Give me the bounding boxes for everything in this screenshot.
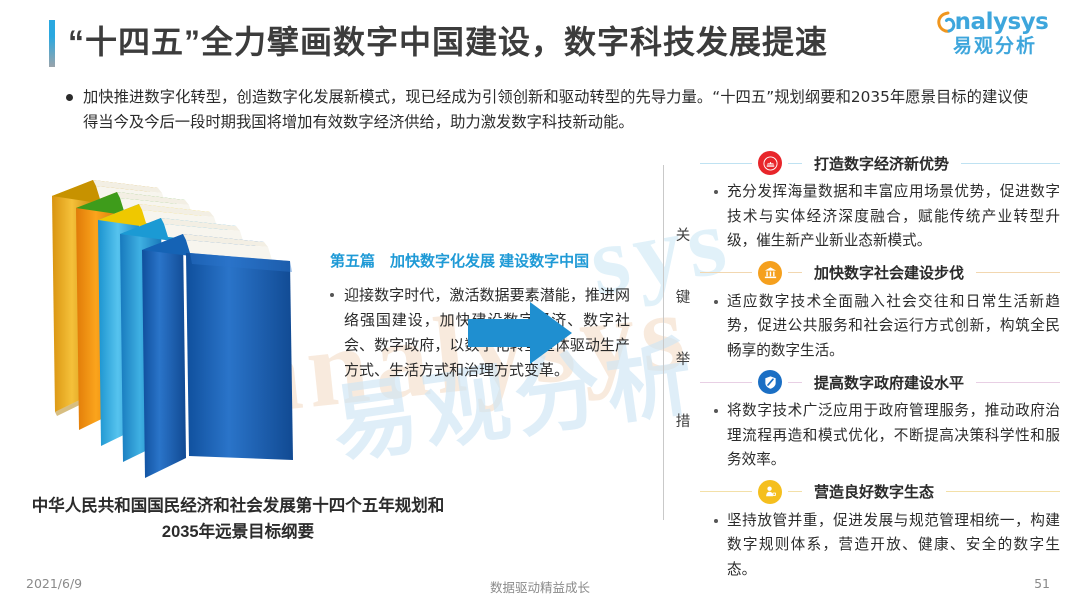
measure-body: 将数字技术广泛应用于政府管理服务，推动政府治理流程再造和模式优化，不断提高决策科… [727,399,1060,473]
measure-body: 充分发挥海量数据和丰富应用场景优势，促进数字技术与实体经济深度融合，赋能传统产业… [727,180,1060,254]
vlabel-char-3: 举 [672,329,694,391]
lead-paragraph: 加快推进数字化转型，创造数字化发展新模式，现已经成为引领创新和驱动转型的先导力量… [66,85,1028,135]
page-title: “十四五”全力擘画数字中国建设，数字科技发展提速 [68,17,828,63]
measure-title: 营造良好数字生态 [808,481,940,502]
rule-left [700,382,752,383]
rule-mid [788,382,802,383]
bullet-dot-icon [714,190,718,194]
measure-title: 提高数字政府建设水平 [808,372,970,393]
footer-slogan: 数据驱动精益成长 [0,577,1080,596]
emblem-icon [758,151,782,175]
footer-page-number: 51 [1034,576,1050,591]
vertical-divider [663,165,664,520]
measure-section: 提高数字政府建设水平 将数字技术广泛应用于政府管理服务，推动政府治理流程再造和模… [700,367,1060,473]
rule-mid [788,491,802,492]
logo-wordmark: nalysys [955,11,1049,34]
measure-title: 打造数字经济新优势 [808,153,955,174]
logo-chinese: 易观分析 [934,37,1056,56]
rule-right [976,272,1060,273]
rule-right [946,491,1060,492]
lead-paragraph-text: 加快推进数字化转型，创造数字化发展新模式，现已经成为引领创新和驱动转型的先导力量… [83,85,1028,135]
illustration-caption: 中华人民共和国国民经济和社会发展第十四个五年规划和2035年远景目标纲要 [28,493,448,545]
bullet-dot-icon [66,94,73,101]
slide-root: analysys sys 易观分析 “十四五”全力擘画数字中国建设，数字科技发展… [0,0,1080,608]
rule-left [700,272,752,273]
brand-logo: nalysys 易观分析 [934,10,1056,56]
rule-right [961,163,1060,164]
bullet-dot-icon [330,293,334,297]
shield-icon [758,370,782,394]
right-arrow-icon [468,300,572,366]
bullet-dot-icon [714,300,718,304]
bullet-dot-icon [714,519,718,523]
key-measures-list: 打造数字经济新优势 充分发挥海量数据和丰富应用场景优势，促进数字技术与实体经济深… [700,148,1060,586]
middle-heading: 第五篇 加快数字化发展 建设数字中国 [330,250,630,271]
bank-icon [758,261,782,285]
person-icon [758,480,782,504]
measure-section: 加快数字社会建设步伐 适应数字技术全面融入社会交往和日常生活新趋势，促进公共服务… [700,258,1060,364]
rule-mid [788,163,802,164]
measure-body: 适应数字技术全面融入社会交往和日常生活新趋势，促进公共服务和社会运行方式创新，构… [727,290,1060,364]
measure-section: 营造良好数字生态 坚持放管并重，促进发展与规范管理相统一，构建数字规则体系，营造… [700,477,1060,583]
stack-of-books-illustration [38,160,298,490]
rule-left [700,163,752,164]
vlabel-char-1: 关 [672,205,694,267]
bullet-dot-icon [714,409,718,413]
measure-body: 坚持放管并重，促进发展与规范管理相统一，构建数字规则体系，营造开放、健康、安全的… [727,509,1060,583]
key-measures-vertical-label: 关 键 举 措 [672,205,694,453]
rule-left [700,491,752,492]
rule-right [976,382,1060,383]
vlabel-char-2: 键 [672,267,694,329]
rule-mid [788,272,802,273]
measure-section: 打造数字经济新优势 充分发挥海量数据和丰富应用场景优势，促进数字技术与实体经济深… [700,148,1060,254]
title-accent-bar [49,20,55,67]
measure-title: 加快数字社会建设步伐 [808,262,970,283]
vlabel-char-4: 措 [672,391,694,453]
